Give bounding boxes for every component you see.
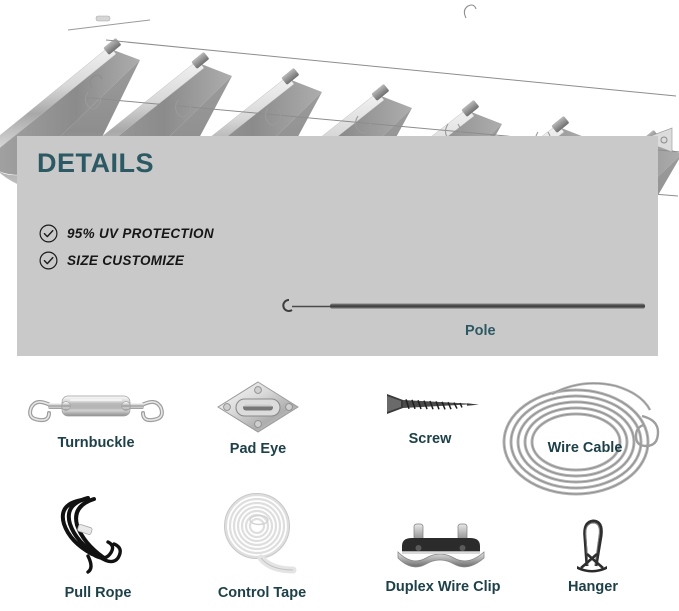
accessory-hanger: Hanger: [528, 516, 658, 595]
accessory-label: Wire Cable: [492, 440, 678, 456]
pole-label: Pole: [465, 323, 496, 339]
feature-item: 95% UV PROTECTION: [39, 224, 214, 243]
accessory-label: Pad Eye: [188, 441, 328, 457]
accessory-control-tape: Control Tape: [182, 490, 342, 601]
pole-rod-icon: [275, 291, 650, 321]
pad-eye-icon: [188, 378, 328, 441]
accessory-row-1: Turnbuckle: [0, 378, 679, 478]
accessory-label: Hanger: [528, 579, 658, 595]
accessory-label: Pull Rope: [18, 585, 178, 601]
accessory-pad-eye: Pad Eye: [188, 378, 328, 457]
screw-icon: [355, 380, 505, 431]
details-panel: DETAILS 95% UV PROTECTION: [17, 136, 658, 356]
accessory-duplex-wire-clip: Duplex Wire Clip: [350, 518, 536, 595]
pole-figure: Pole: [275, 291, 650, 353]
accessory-turnbuckle: Turnbuckle: [16, 382, 176, 451]
accessory-wire-cable: Wire Cable: [492, 376, 678, 456]
accessory-label: Turnbuckle: [16, 435, 176, 451]
accessory-screw: Screw: [355, 380, 505, 447]
feature-item: SIZE CUSTOMIZE: [39, 251, 214, 270]
turnbuckle-icon: [16, 382, 176, 435]
accessory-row-2: Pull Rope: [0, 488, 679, 611]
details-title: DETAILS: [37, 148, 154, 179]
control-tape-icon: [182, 490, 342, 585]
feature-label: SIZE CUSTOMIZE: [67, 253, 184, 268]
feature-list: 95% UV PROTECTION SIZE CUSTOMIZE: [39, 224, 214, 278]
check-circle-icon: [39, 224, 58, 243]
accessory-pull-rope: Pull Rope: [18, 490, 178, 601]
accessory-label: Screw: [355, 431, 505, 447]
feature-label: 95% UV PROTECTION: [67, 226, 214, 241]
hanger-icon: [528, 516, 658, 579]
accessory-label: Control Tape: [182, 585, 342, 601]
check-circle-icon: [39, 251, 58, 270]
duplex-wire-clip-icon: [350, 518, 536, 579]
pull-rope-icon: [18, 490, 178, 585]
accessory-label: Duplex Wire Clip: [350, 579, 536, 595]
infographic-root: DETAILS 95% UV PROTECTION: [0, 0, 679, 611]
